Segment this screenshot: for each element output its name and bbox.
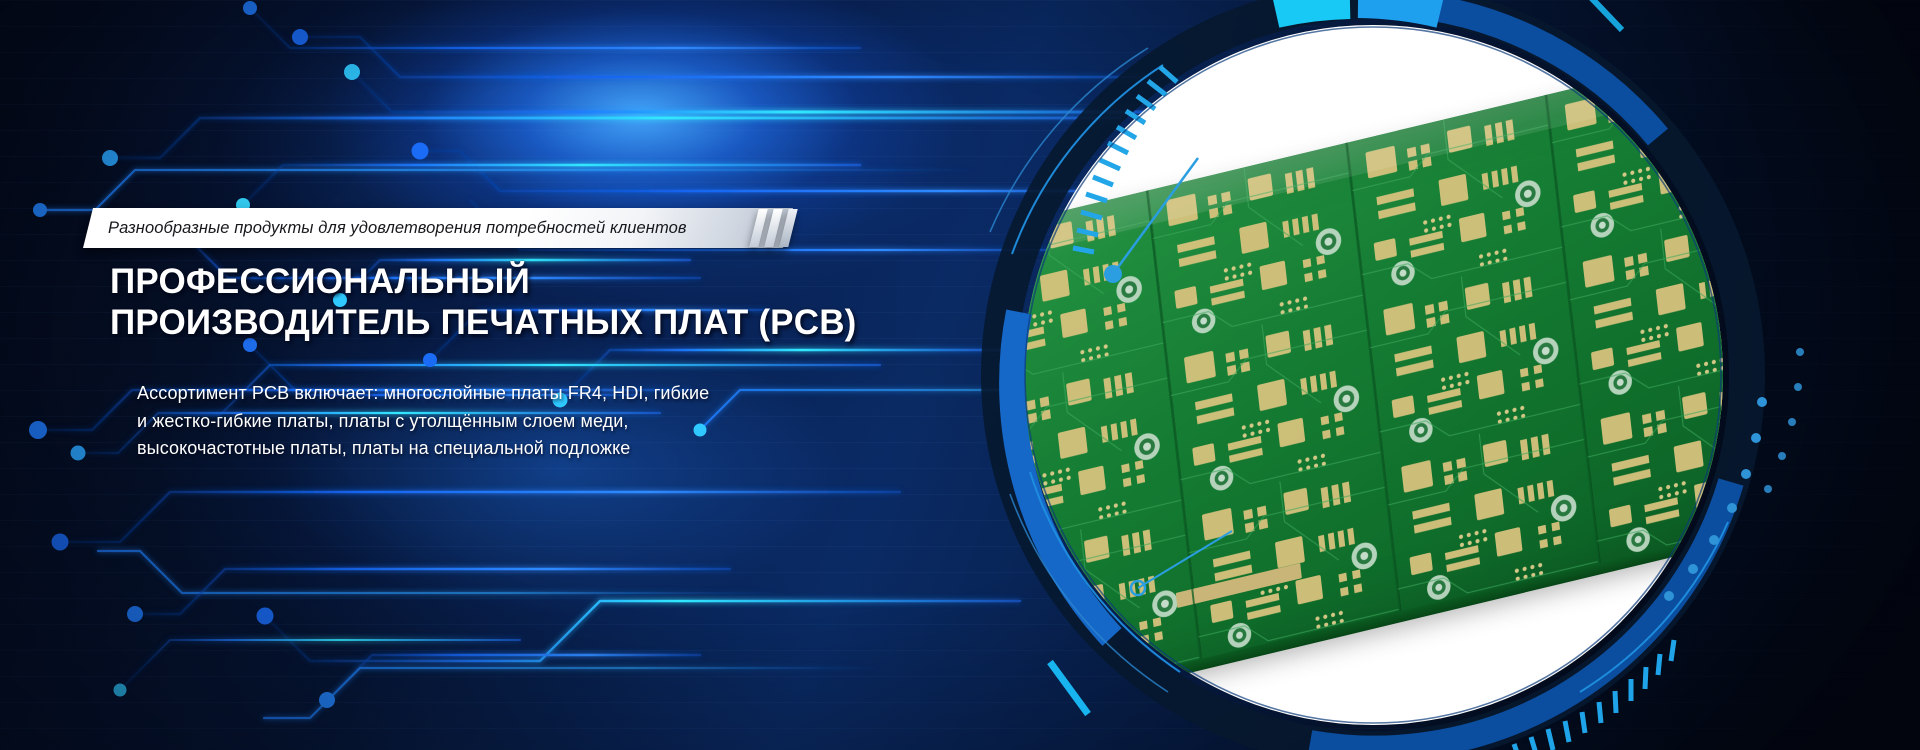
headline-line-2: ПРОИЗВОДИТЕЛЬ ПЕЧАТНЫХ ПЛАТ (PCB) <box>110 303 930 344</box>
page-title: ПРОФЕССИОНАЛЬНЫЙ ПРОИЗВОДИТЕЛЬ ПЕЧАТНЫХ … <box>110 262 930 343</box>
description-line-3: высокочастотные платы, платы на специаль… <box>137 435 897 463</box>
hud-ring-stage <box>880 0 1866 750</box>
description-line-2: и жестко-гибкие платы, платы с утолщённы… <box>137 408 897 436</box>
hud-ring-icon <box>880 0 1866 750</box>
pcb-hero-banner: Разнообразные продукты для удовлетворени… <box>0 0 1920 750</box>
description-text: Ассортимент PCB включает: многослойные п… <box>137 380 897 463</box>
dotted-arc-icon <box>1764 348 1804 493</box>
headline-line-1: ПРОФЕССИОНАЛЬНЫЙ <box>110 262 930 303</box>
tagline-text: Разнообразные продукты для удовлетворени… <box>108 208 768 248</box>
description-line-1: Ассортимент PCB включает: многослойные п… <box>137 380 897 408</box>
